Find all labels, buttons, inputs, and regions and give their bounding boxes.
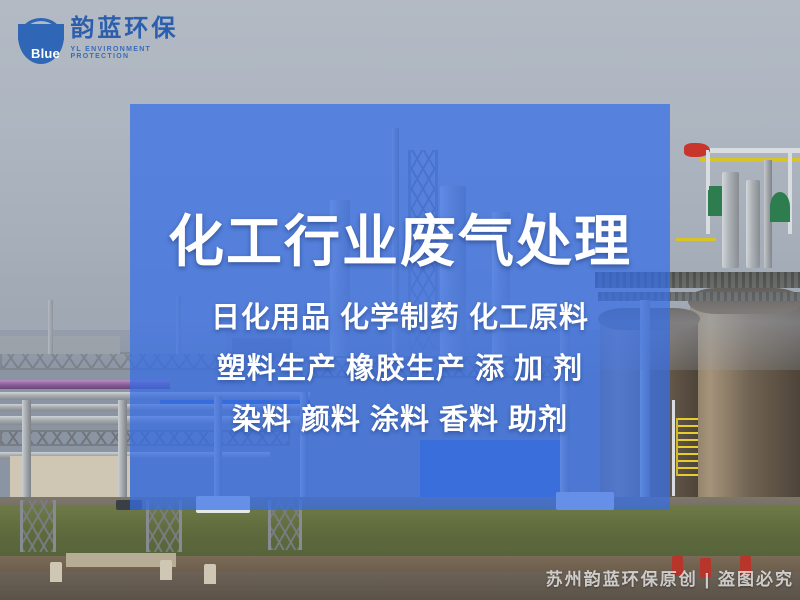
copyright-watermark: 苏州韵蓝环保原创 | 盗图必究: [546, 565, 794, 590]
windsock-pole: [706, 150, 709, 190]
support-column-2: [118, 400, 127, 510]
tank-access-stair: [676, 418, 698, 476]
banner-text-block: 化工行业废气处理 日化用品 化学制药 化工原料 塑料生产 橡胶生产 添 加 剂 …: [130, 104, 670, 510]
logo-word-blue: Blue: [31, 46, 60, 61]
logo-text-group: 韵蓝环保 YL ENVIRONMENT PROTECTION: [70, 16, 194, 59]
banner-headline: 化工行业废气处理: [168, 212, 632, 272]
tank-handrail-left: [676, 238, 716, 241]
pipe-rack-leg-1: [20, 500, 56, 552]
banner-subline-3: 染料 颜料 涂料 香料 助剂: [232, 406, 568, 435]
logo-company-name-en: YL ENVIRONMENT PROTECTION: [70, 46, 194, 60]
banner-subline-2: 塑料生产 橡胶生产 添 加 剂: [217, 355, 583, 384]
rhyme-blue-mark-icon: Rhyme Blue: [14, 10, 62, 66]
banner-subline-1: 日化用品 化学制药 化工原料: [211, 304, 589, 333]
bollard-1: [50, 562, 62, 582]
tank-gantry-rail: [700, 158, 800, 162]
support-column-1: [22, 400, 31, 510]
bollard-3: [204, 564, 216, 584]
bollard-2: [160, 560, 172, 580]
logo-company-name-cn: 韵蓝环保: [70, 16, 194, 42]
green-equipment-cone: [770, 192, 790, 222]
logo-word-rhyme: Rhyme: [19, 32, 63, 47]
tank-stair-rail: [672, 400, 675, 496]
tank-gantry-beam: [700, 148, 800, 153]
green-equipment-box: [708, 186, 722, 216]
company-logo[interactable]: Rhyme Blue 韵蓝环保 YL ENVIRONMENT PROTECTIO…: [14, 8, 194, 68]
